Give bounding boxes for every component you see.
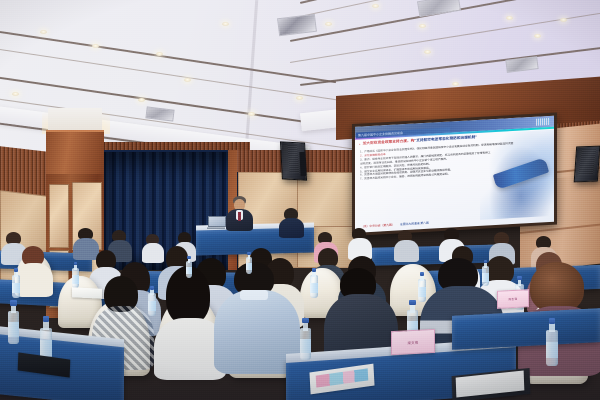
- handout-document: [72, 287, 102, 299]
- column-panel-left: [49, 184, 69, 248]
- water-bottle-icon: [418, 272, 426, 302]
- ceiling-downlight: [40, 30, 47, 34]
- ceiling-downlight: [452, 82, 459, 86]
- attendee-torso: [142, 243, 164, 263]
- attendee-hair: [530, 262, 584, 312]
- water-bottle-icon: [246, 252, 252, 274]
- conference-room-photo: 、加大财政资金政策支持力度，构"支持航空电波常态化预防和治理机制" 1、严格落实…: [0, 0, 600, 400]
- column-capital-slats: [46, 130, 104, 178]
- water-bottle-icon: [300, 318, 311, 360]
- ceiling-downlight: [560, 18, 567, 22]
- place-name-card-text: 陈志强: [509, 297, 518, 301]
- slide-footer-right: 全国化大跨通省 第八届: [400, 221, 429, 227]
- ceiling-downlight: [92, 44, 99, 48]
- place-name-card: 梁文泉: [391, 329, 435, 355]
- laptop-screen: [208, 216, 226, 227]
- water-bottle-icon: [8, 300, 19, 344]
- wall-speaker-right-icon: [574, 146, 600, 183]
- slide-title-emphasis: "支持航空电波常态化预防和治理机制": [414, 135, 477, 143]
- ceiling-downlight: [156, 52, 163, 56]
- ceiling-downlight: [296, 96, 303, 100]
- ceiling-downlight: [534, 34, 541, 38]
- slide-footer-left: （续）中央分会（第九届）: [361, 223, 395, 229]
- attendee-torso: [15, 263, 53, 297]
- water-bottle-icon: [310, 268, 318, 298]
- attendee-torso: [279, 218, 304, 238]
- place-name-card: 陈志强: [497, 289, 529, 309]
- hvac-diffuser: [417, 0, 461, 17]
- water-bottle-icon: [546, 318, 558, 366]
- laptop-base: [207, 227, 226, 229]
- ceiling-downlight: [222, 22, 229, 26]
- slide-title-prefix: 、加大财政资金政策支持力度，构: [359, 139, 414, 146]
- hvac-diffuser: [277, 14, 317, 36]
- presenter-laptop-icon: [208, 216, 224, 229]
- attendee-torso: [394, 240, 419, 262]
- presenter-tie: [238, 212, 241, 221]
- column-capital-white: [48, 108, 102, 132]
- ceiling-downlight: [424, 50, 431, 54]
- ceiling-downlight: [184, 78, 191, 82]
- ceiling-downlight: [325, 22, 332, 26]
- water-bottle-icon: [12, 268, 20, 298]
- attendee-torso: [73, 238, 99, 260]
- attendee-collar: [240, 290, 268, 300]
- water-bottle-icon: [148, 286, 156, 316]
- water-bottle-icon: [482, 260, 489, 286]
- ceiling-downlight: [138, 98, 145, 102]
- hvac-diffuser: [505, 56, 538, 73]
- speaker-bracket: [299, 152, 306, 176]
- ceiling-downlight: [372, 4, 379, 8]
- place-name-card-text: 梁文泉: [407, 339, 418, 345]
- ceiling-downlight: [248, 112, 255, 116]
- water-bottle-icon: [72, 262, 79, 288]
- ceiling-downlight: [419, 24, 426, 28]
- ceiling-downlight: [506, 16, 513, 20]
- slide-footer: （续）中央分会（第九届） 全国化大跨通省 第八届: [361, 214, 547, 228]
- ceiling-downlight: [12, 92, 19, 96]
- water-bottle-icon: [186, 256, 192, 278]
- event-logo-icon: [536, 118, 550, 126]
